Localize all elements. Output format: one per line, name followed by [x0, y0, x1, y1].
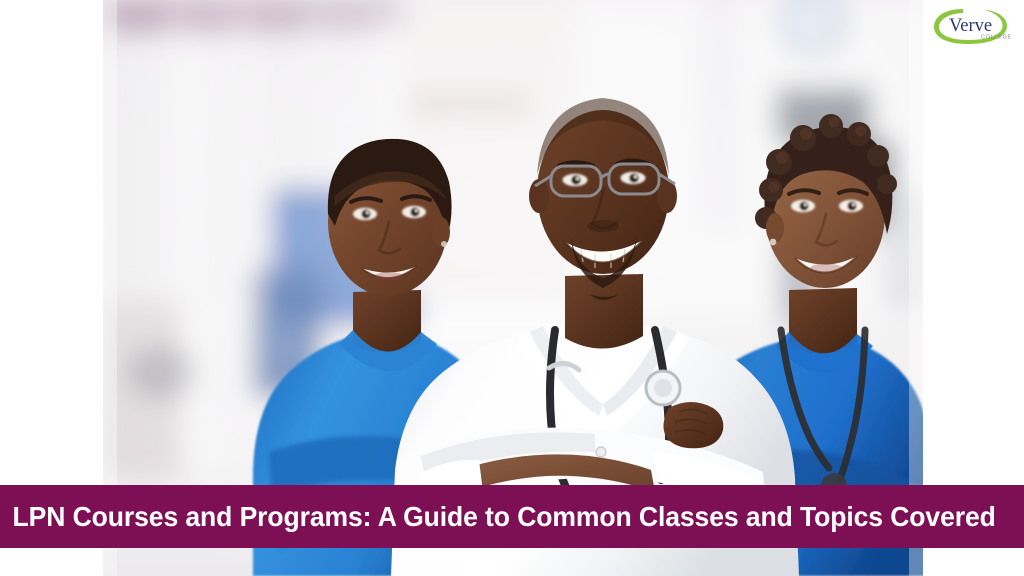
verve-college-logo[interactable]: Verve COLLEGE [931, 4, 1015, 48]
screenshot-canvas: Verve COLLEGE LPN Courses and Programs: … [0, 0, 1024, 576]
verve-college-logo-mark: Verve COLLEGE [931, 4, 1015, 48]
title-banner: LPN Courses and Programs: A Guide to Com… [0, 485, 1024, 548]
logo-wordmark: Verve [949, 16, 992, 36]
logo-subtext: COLLEGE [981, 35, 1012, 41]
banner-title-text: LPN Courses and Programs: A Guide to Com… [0, 503, 996, 531]
